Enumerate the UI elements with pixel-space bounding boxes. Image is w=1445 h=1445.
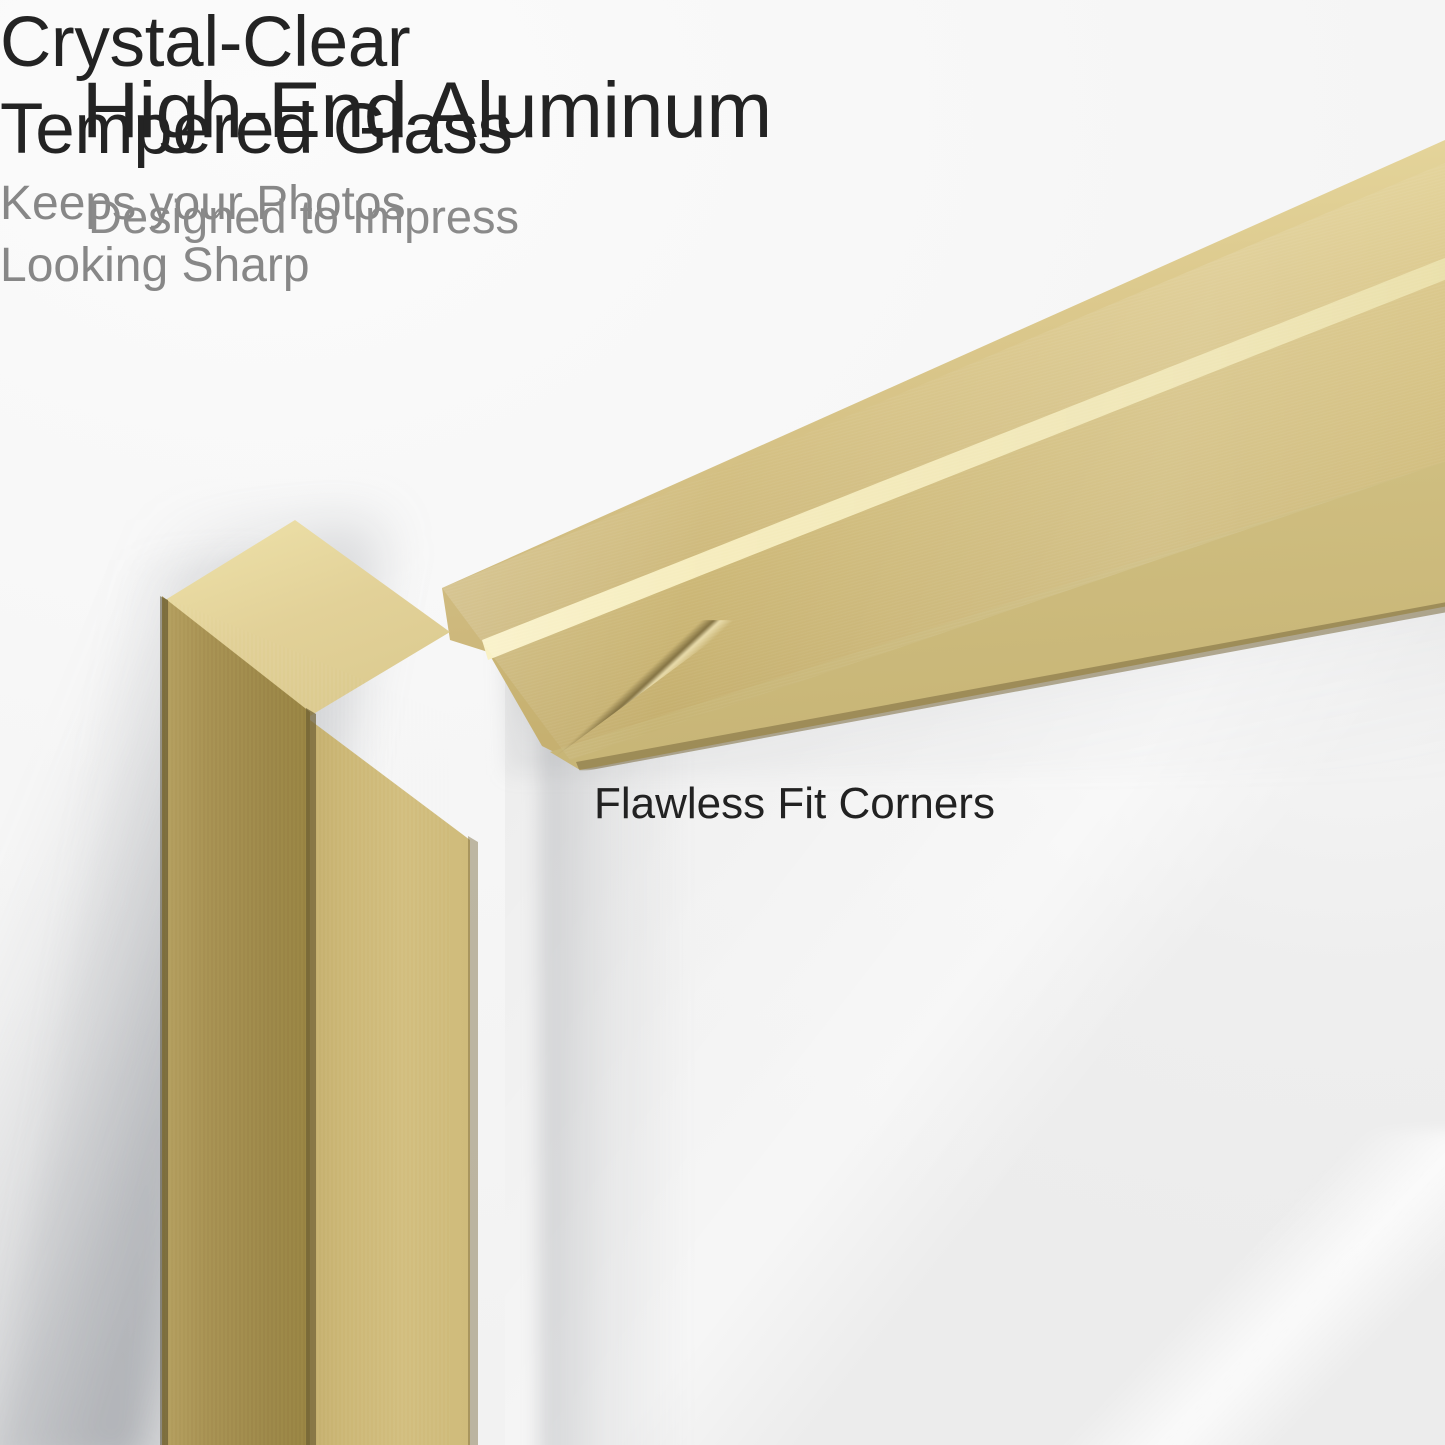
page-title: High-End Aluminum (82, 70, 772, 149)
callout-flawless-fit-corners: Flawless Fit Corners (594, 782, 995, 826)
glass-reflection-streak (1010, 1130, 1445, 1445)
product-feature-graphic: High-End Aluminum Designed to Impress Fl… (0, 0, 1445, 1445)
page-subtitle: Designed to Impress (88, 193, 519, 240)
